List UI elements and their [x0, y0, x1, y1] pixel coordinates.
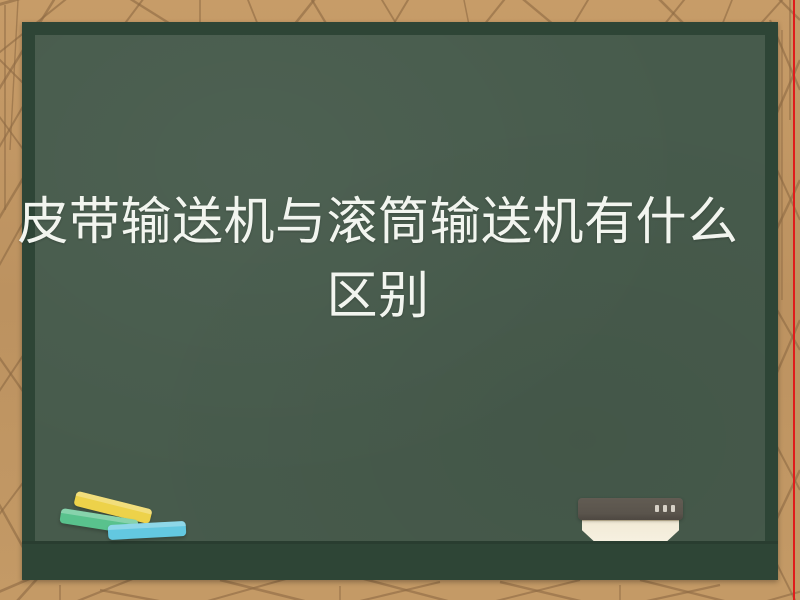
- eraser-dot: [671, 505, 675, 512]
- board-question-text: 皮带输送机与滚筒输送机有什么区别: [13, 186, 743, 334]
- eraser-dots: [655, 505, 675, 512]
- chalkboard-eraser: [578, 498, 683, 542]
- eraser-dot: [655, 505, 659, 512]
- chalk-blue: [108, 521, 187, 540]
- red-edge-line: [793, 0, 795, 600]
- chalkboard-scene: 皮带输送机与滚筒输送机有什么区别: [0, 0, 800, 600]
- chalk-sticks: [60, 490, 180, 550]
- eraser-dot: [663, 505, 667, 512]
- eraser-body: [578, 498, 683, 520]
